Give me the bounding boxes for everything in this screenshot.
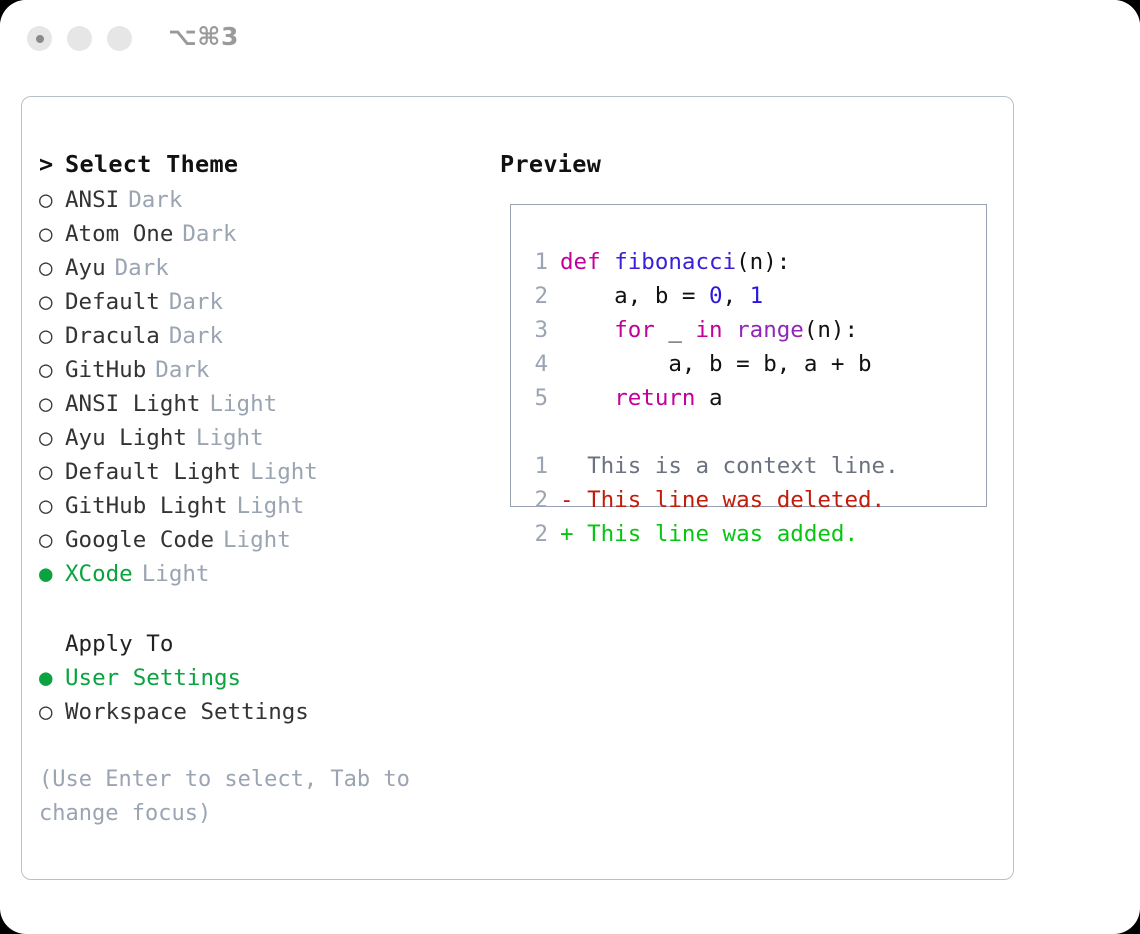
theme-name-label: Ayu Light [65, 425, 187, 451]
code-line: 1def fibonacci(n): [522, 245, 982, 279]
theme-selection-column: >Select Theme ○ANSIDark○Atom OneDark○Ayu… [39, 145, 479, 831]
code-token: , [723, 283, 750, 309]
theme-kind-badge: Dark [115, 255, 169, 281]
code-token: in [695, 317, 722, 343]
code-line-number: 1 [522, 245, 548, 279]
theme-name-label: Default Light [65, 459, 241, 485]
code-token [560, 317, 614, 343]
theme-kind-badge: Light [142, 561, 210, 587]
apply-to-label: Apply To [39, 627, 479, 661]
diff-text: This is a context line. [574, 453, 899, 479]
theme-name-label: Default [65, 289, 160, 315]
theme-list-item[interactable]: ●XCodeLight [39, 557, 479, 591]
theme-kind-badge: Light [196, 425, 264, 451]
code-token: fibonacci [614, 249, 736, 275]
main-panel: >Select Theme ○ANSIDark○Atom OneDark○Ayu… [21, 96, 1014, 880]
code-token [601, 249, 615, 275]
theme-list-item[interactable]: ○ANSI LightLight [39, 387, 479, 421]
code-token: range [736, 317, 804, 343]
apply-to-option[interactable]: ○Workspace Settings [39, 695, 479, 729]
diff-sign: + [560, 521, 574, 547]
radio-unselected-icon: ○ [39, 489, 65, 523]
code-token: a, b = b, a + b [560, 351, 872, 377]
theme-name-label: Google Code [65, 527, 214, 553]
theme-list-item[interactable]: ○ANSIDark [39, 183, 479, 217]
keyboard-hint-text: (Use Enter to select, Tab to change focu… [39, 763, 459, 831]
theme-name-label: ANSI Light [65, 391, 200, 417]
theme-list-item[interactable]: ○Google CodeLight [39, 523, 479, 557]
theme-kind-badge: Dark [169, 289, 223, 315]
theme-name-label: XCode [65, 561, 133, 587]
theme-kind-badge: Dark [128, 187, 182, 213]
theme-list-item[interactable]: ○GitHub LightLight [39, 489, 479, 523]
theme-name-label: GitHub Light [65, 493, 228, 519]
theme-list-item[interactable]: ○DraculaDark [39, 319, 479, 353]
window-dot-maximize[interactable] [107, 26, 132, 51]
app-window: ⌥⌘3 >Select Theme ○ANSIDark○Atom OneDark… [0, 0, 1140, 934]
radio-selected-icon: ● [39, 661, 65, 695]
diff-line: 2+ This line was added. [522, 517, 982, 551]
code-line-number: 3 [522, 313, 548, 347]
spacer-above-hint [39, 729, 479, 763]
theme-list-item[interactable]: ○GitHubDark [39, 353, 479, 387]
code-token: for [614, 317, 655, 343]
diff-text: This line was added. [574, 521, 858, 547]
code-token: 0 [709, 283, 723, 309]
radio-selected-icon: ● [39, 557, 65, 591]
code-token: n [750, 249, 764, 275]
code-token: a [695, 385, 722, 411]
theme-kind-badge: Dark [182, 221, 236, 247]
diff-line: 1 This is a context line. [522, 449, 982, 483]
code-line: 2 a, b = 0, 1 [522, 279, 982, 313]
theme-kind-badge: Light [237, 493, 305, 519]
prompt-caret-icon: > [39, 145, 65, 183]
apply-to-option[interactable]: ●User Settings [39, 661, 479, 695]
theme-name-label: Dracula [65, 323, 160, 349]
spacer-above-apply-to [39, 591, 479, 627]
apply-to-option-label: Workspace Settings [65, 699, 309, 725]
radio-unselected-icon: ○ [39, 285, 65, 319]
code-token: ( [736, 249, 750, 275]
code-token: return [614, 385, 695, 411]
code-token: a, b = [560, 283, 709, 309]
code-diff-separator [522, 415, 982, 449]
apply-to-option-label: User Settings [65, 665, 241, 691]
preview-box: 1def fibonacci(n):2 a, b = 0, 13 for _ i… [510, 204, 987, 507]
radio-unselected-icon: ○ [39, 183, 65, 217]
apply-to-list: ●User Settings○Workspace Settings [39, 661, 479, 729]
code-token [723, 317, 737, 343]
diff-text: This line was deleted. [574, 487, 886, 513]
theme-list-item[interactable]: ○DefaultDark [39, 285, 479, 319]
code-token [560, 385, 614, 411]
theme-kind-badge: Light [223, 527, 291, 553]
radio-unselected-icon: ○ [39, 523, 65, 557]
theme-list-item[interactable]: ○Default LightLight [39, 455, 479, 489]
diff-sign [560, 453, 574, 479]
theme-list: ○ANSIDark○Atom OneDark○AyuDark○DefaultDa… [39, 183, 479, 591]
code-token: _ [655, 317, 696, 343]
theme-name-label: Ayu [65, 255, 106, 281]
radio-unselected-icon: ○ [39, 421, 65, 455]
keyboard-shortcut-label: ⌥⌘3 [168, 22, 239, 51]
theme-list-item[interactable]: ○AyuDark [39, 251, 479, 285]
diff-line-number: 1 [522, 449, 548, 483]
radio-unselected-icon: ○ [39, 217, 65, 251]
code-preview-area: 1def fibonacci(n):2 a, b = 0, 13 for _ i… [522, 245, 982, 551]
code-sample: 1def fibonacci(n):2 a, b = 0, 13 for _ i… [522, 245, 982, 415]
window-dot-active-indicator [36, 35, 44, 43]
theme-list-item[interactable]: ○Atom OneDark [39, 217, 479, 251]
window-dot-minimize[interactable] [67, 26, 92, 51]
radio-unselected-icon: ○ [39, 319, 65, 353]
code-line: 3 for _ in range(n): [522, 313, 982, 347]
radio-unselected-icon: ○ [39, 455, 65, 489]
radio-unselected-icon: ○ [39, 695, 65, 729]
diff-line-number: 2 [522, 517, 548, 551]
code-token: 1 [750, 283, 764, 309]
theme-kind-badge: Light [209, 391, 277, 417]
diff-line-number: 2 [522, 483, 548, 517]
diff-line: 2- This line was deleted. [522, 483, 982, 517]
preview-heading: Preview [500, 145, 1000, 183]
code-token: (n): [804, 317, 858, 343]
preview-column: Preview 1def fibonacci(n):2 a, b = 0, 13… [500, 145, 1000, 183]
diff-sample: 1 This is a context line.2- This line wa… [522, 449, 982, 551]
theme-list-item[interactable]: ○Ayu LightLight [39, 421, 479, 455]
code-line-number: 2 [522, 279, 548, 313]
radio-unselected-icon: ○ [39, 353, 65, 387]
code-token: def [560, 249, 601, 275]
select-theme-heading-label: Select Theme [65, 150, 238, 178]
theme-name-label: ANSI [65, 187, 119, 213]
title-bar: ⌥⌘3 [0, 0, 1140, 78]
theme-kind-badge: Dark [169, 323, 223, 349]
code-token: ): [763, 249, 790, 275]
theme-name-label: GitHub [65, 357, 146, 383]
theme-kind-badge: Light [250, 459, 318, 485]
code-line-number: 4 [522, 347, 548, 381]
theme-kind-badge: Dark [155, 357, 209, 383]
radio-unselected-icon: ○ [39, 387, 65, 421]
code-line: 5 return a [522, 381, 982, 415]
code-line: 4 a, b = b, a + b [522, 347, 982, 381]
radio-unselected-icon: ○ [39, 251, 65, 285]
select-theme-heading: >Select Theme [39, 145, 479, 183]
diff-sign: - [560, 487, 574, 513]
code-line-number: 5 [522, 381, 548, 415]
theme-name-label: Atom One [65, 221, 173, 247]
